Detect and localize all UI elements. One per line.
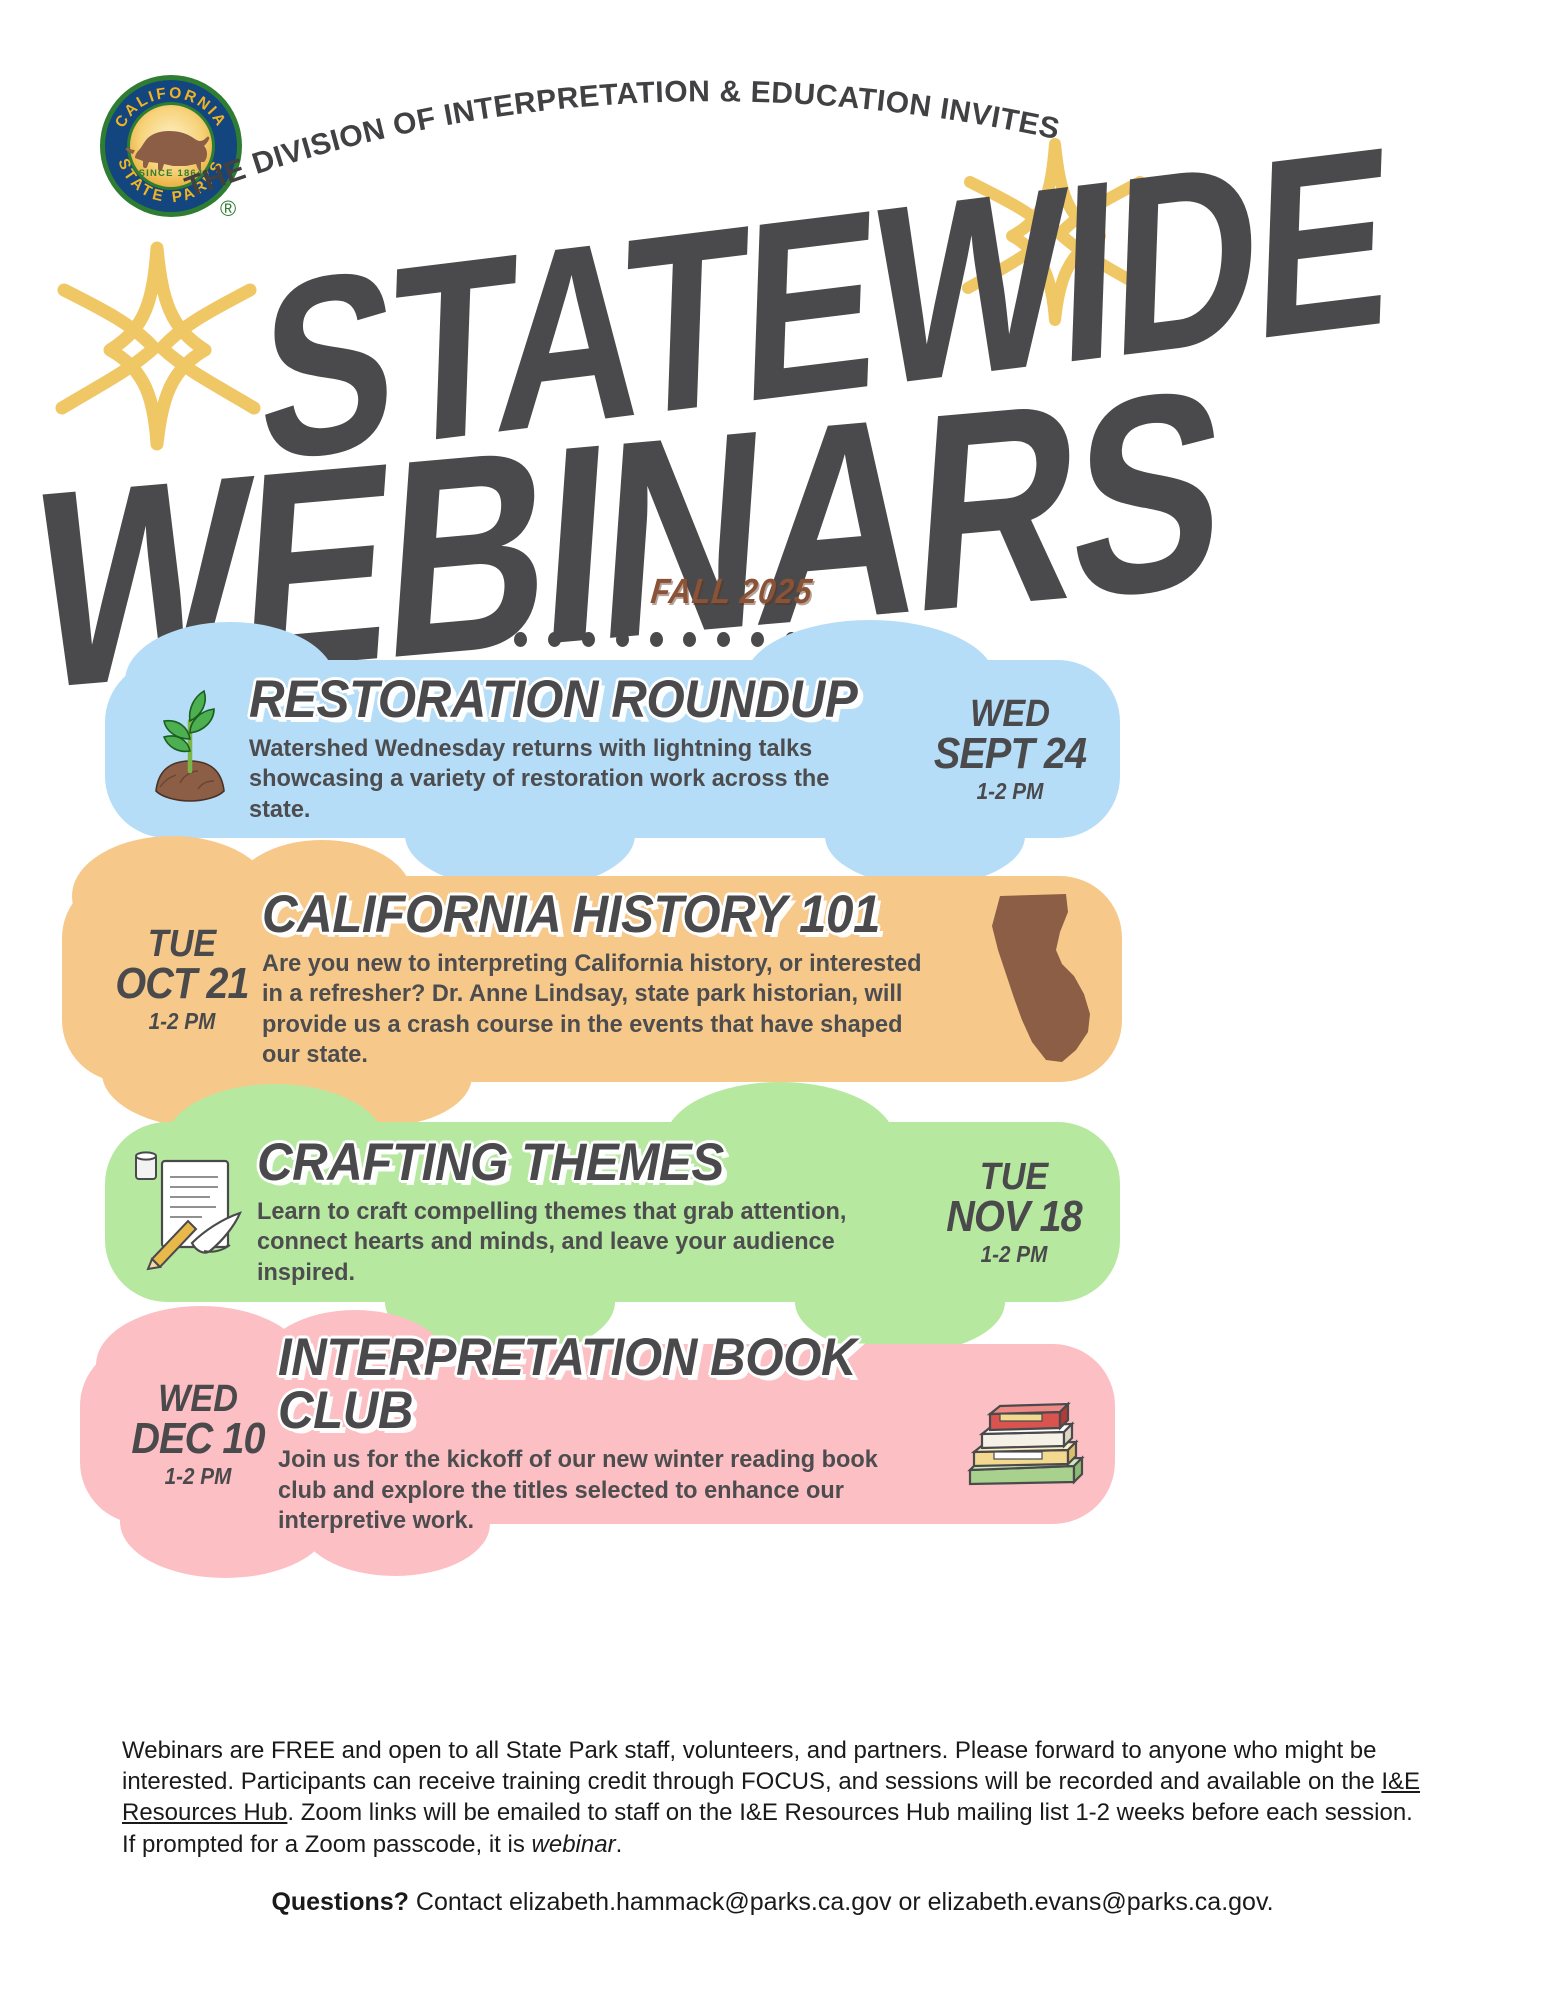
webinar-card-list: RESTORATION ROUNDUP Watershed Wednesday …: [0, 660, 1545, 1524]
divider-dot: [650, 632, 663, 647]
zoom-passcode-value: webinar: [532, 1831, 616, 1858]
card-title: CALIFORNIA HISTORY 101: [262, 888, 913, 941]
divider-dot: [480, 632, 493, 647]
webinar-card-restoration-roundup[interactable]: RESTORATION ROUNDUP Watershed Wednesday …: [105, 660, 1120, 838]
footer-text-part-1: Webinars are FREE and open to all State …: [122, 1737, 1381, 1795]
divider-dot: [582, 632, 595, 647]
poster-title-wordart: STATEWIDE WEBINARS: [0, 90, 1545, 520]
california-map-icon: [962, 890, 1112, 1068]
card-date: SEPT 24: [933, 733, 1088, 775]
card-time: 1-2 PM: [126, 1465, 270, 1487]
poster-header: CALIFORNIA STATE PARKS SINCE 1864 ® THE …: [0, 0, 1545, 660]
card-time: 1-2 PM: [110, 1010, 254, 1032]
card-body: RESTORATION ROUNDUP Watershed Wednesday …: [249, 673, 924, 825]
poster-footer: Webinars are FREE and open to all State …: [0, 1735, 1545, 1917]
card-title: INTERPRETATION BOOK CLUB: [278, 1331, 904, 1437]
questions-line: Questions? Contact elizabeth.hammack@par…: [122, 1888, 1423, 1917]
card-description: Are you new to interpreting California h…: [262, 949, 934, 1071]
card-date-badge: TUE OCT 21 1-2 PM: [84, 926, 262, 1032]
card-description: Watershed Wednesday returns with lightni…: [249, 734, 897, 825]
questions-label: Questions?: [271, 1888, 409, 1916]
divider-dot: [717, 632, 730, 647]
seedling-icon: [131, 687, 249, 811]
card-day-of-week: TUE: [110, 926, 254, 962]
card-description: Learn to craft compelling themes that gr…: [257, 1197, 903, 1288]
divider-dot: [616, 632, 629, 647]
divider-dot: [514, 632, 527, 647]
card-date-badge: WED SEPT 24 1-2 PM: [924, 696, 1096, 802]
card-body: CALIFORNIA HISTORY 101 Are you new to in…: [262, 888, 962, 1071]
card-date: OCT 21: [110, 963, 254, 1005]
card-day-of-week: WED: [933, 696, 1088, 732]
footer-paragraph: Webinars are FREE and open to all State …: [122, 1735, 1423, 1860]
card-title: CRAFTING THEMES: [257, 1136, 883, 1189]
divider-dot: [683, 632, 696, 647]
webinar-card-interpretation-book-club[interactable]: WED DEC 10 1-2 PM INTERPRETATION BOOK CL…: [80, 1344, 1115, 1524]
card-time: 1-2 PM: [933, 780, 1088, 802]
card-date: NOV 18: [938, 1196, 1089, 1238]
card-day-of-week: WED: [126, 1381, 270, 1417]
card-date-badge: WED DEC 10 1-2 PM: [102, 1381, 278, 1487]
divider-dot: [751, 632, 764, 647]
card-date-badge: TUE NOV 18 1-2 PM: [930, 1159, 1098, 1265]
footer-text-part-3: .: [616, 1831, 623, 1858]
stacked-books-icon: [951, 1374, 1101, 1494]
card-date: DEC 10: [126, 1418, 270, 1460]
footer-text-part-2: . Zoom links will be emailed to staff on…: [122, 1799, 1413, 1857]
card-day-of-week: TUE: [938, 1159, 1089, 1195]
webinar-card-crafting-themes[interactable]: CRAFTING THEMES Learn to craft compellin…: [105, 1122, 1120, 1302]
writing-hand-icon: [127, 1147, 257, 1277]
divider-dot: [548, 632, 561, 647]
card-description: Join us for the kickoff of our new winte…: [278, 1445, 924, 1536]
webinar-card-california-history-101[interactable]: TUE OCT 21 1-2 PM CALIFORNIA HISTORY 101…: [62, 876, 1122, 1082]
season-label: FALL 2025: [649, 572, 815, 612]
card-title: RESTORATION ROUNDUP: [249, 673, 877, 726]
questions-contact-text: Contact elizabeth.hammack@parks.ca.gov o…: [409, 1888, 1274, 1916]
webinar-flyer: CALIFORNIA STATE PARKS SINCE 1864 ® THE …: [0, 0, 1545, 2000]
card-body: INTERPRETATION BOOK CLUB Join us for the…: [278, 1331, 951, 1536]
card-time: 1-2 PM: [938, 1243, 1089, 1265]
card-body: CRAFTING THEMES Learn to craft compellin…: [257, 1136, 930, 1288]
